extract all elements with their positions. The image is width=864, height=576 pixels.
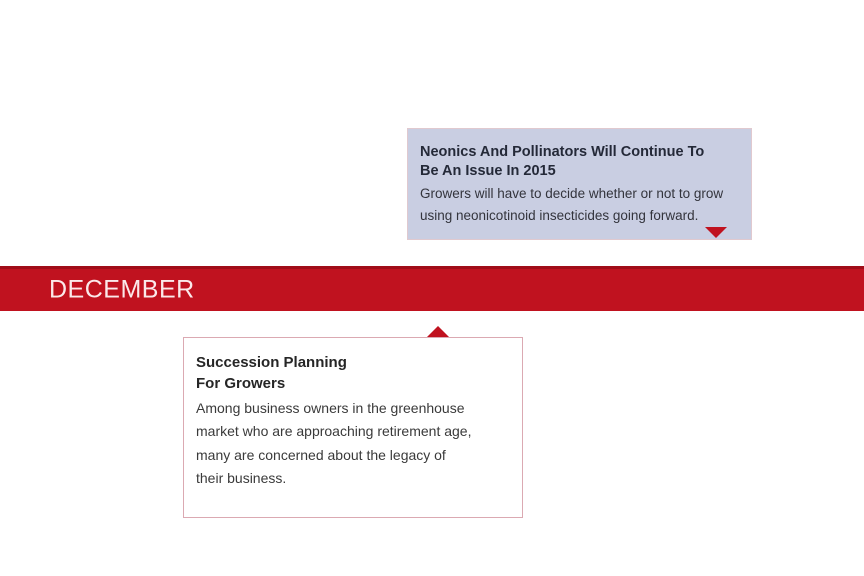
timeline-card-succession-planning[interactable]: Succession Planning For Growers Among bu… <box>183 337 523 518</box>
up-arrow-icon <box>427 326 449 337</box>
timeline-card-body: Among business owners in the greenhouse … <box>196 397 506 491</box>
month-banner-december: DECEMBER <box>0 266 864 311</box>
month-banner-label: DECEMBER <box>49 278 195 303</box>
timeline-card-title: Succession Planning For Growers <box>196 352 506 395</box>
down-arrow-icon <box>705 227 727 238</box>
timeline-canvas: Neonics And Pollinators Will Continue To… <box>0 0 864 576</box>
timeline-card-body: Growers will have to decide whether or n… <box>420 183 734 227</box>
timeline-card-neonics[interactable]: Neonics And Pollinators Will Continue To… <box>407 128 752 240</box>
timeline-card-title: Neonics And Pollinators Will Continue To… <box>420 143 734 181</box>
